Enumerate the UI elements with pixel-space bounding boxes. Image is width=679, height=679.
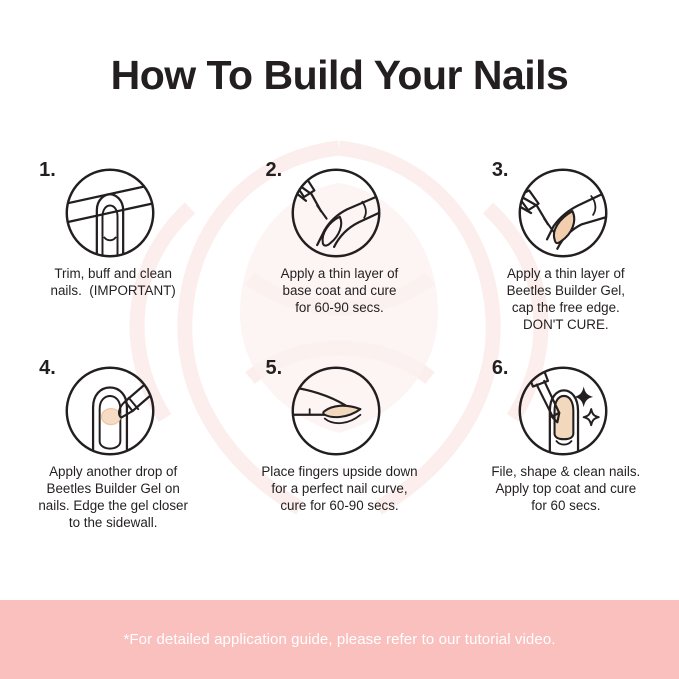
step-5-caption-line: Place fingers upside down [232,463,447,480]
page-title: How To Build Your Nails [0,52,679,99]
step-4-caption-line: nails. Edge the gel closer [6,497,221,514]
step-2-number: 2. [265,159,282,182]
step-3-head: 3. [500,150,632,260]
step-6-head: 6. [500,348,632,458]
step-2-caption-line: Apply a thin layer of [232,265,447,282]
file-shape-sparkle-nail-icon [516,364,610,458]
step-5-caption-line: cure for 60-90 secs. [232,497,447,514]
step-3-caption-line: Beetles Builder Gel, [458,282,673,299]
step-4-number: 4. [39,357,56,380]
step-3-caption: Apply a thin layer of Beetles Builder Ge… [458,265,673,334]
step-1-number: 1. [39,159,56,182]
step-4-head: 4. [47,348,179,458]
step-2-head: 2. [273,150,405,260]
footer-banner: *For detailed application guide, please … [0,600,679,679]
step-1-head: 1. [47,150,179,260]
nail-file-on-finger-icon [63,166,157,260]
step-1-caption: Trim, buff and clean nails. (IMPORTANT) [6,265,221,299]
step-5-caption: Place fingers upside down for a perfect … [232,463,447,514]
gel-drop-on-nail-icon [63,364,157,458]
step-1: 1. [0,150,226,348]
brush-applying-builder-gel-icon [516,166,610,260]
step-3-caption-line: Apply a thin layer of [458,265,673,282]
step-3-caption-line: cap the free edge. [458,299,673,316]
step-5-head: 5. [273,348,405,458]
step-5: 5. [226,348,452,546]
step-5-caption-line: for a perfect nail curve, [232,480,447,497]
brush-applying-base-coat-icon [289,166,383,260]
finger-upside-down-icon [289,364,383,458]
infographic-page: How To Build Your Nails 1. [0,0,679,679]
step-2: 2. [226,150,452,348]
steps-grid: 1. [0,150,679,546]
step-4-caption: Apply another drop of Beetles Builder Ge… [6,463,221,532]
step-4-caption-line: Beetles Builder Gel on [6,480,221,497]
step-6-caption-line: Apply top coat and cure [458,480,673,497]
step-1-caption-line: Trim, buff and clean [6,265,221,282]
step-1-caption-line: nails. (IMPORTANT) [6,282,221,299]
step-2-caption-line: for 60-90 secs. [232,299,447,316]
step-4: 4. [0,348,226,546]
step-5-number: 5. [265,357,282,380]
step-4-caption-line: Apply another drop of [6,463,221,480]
step-6-number: 6. [492,357,509,380]
step-6-caption-line: for 60 secs. [458,497,673,514]
step-2-caption-line: base coat and cure [232,282,447,299]
step-3-caption-line: DON'T CURE. [458,316,673,333]
step-4-caption-line: to the sidewall. [6,514,221,531]
step-3-number: 3. [492,159,509,182]
step-3: 3. [453,150,679,348]
footer-note: *For detailed application guide, please … [123,631,555,648]
step-6-caption: File, shape & clean nails. Apply top coa… [458,463,673,514]
step-6: 6. [453,348,679,546]
step-6-caption-line: File, shape & clean nails. [458,463,673,480]
step-2-caption: Apply a thin layer of base coat and cure… [232,265,447,316]
